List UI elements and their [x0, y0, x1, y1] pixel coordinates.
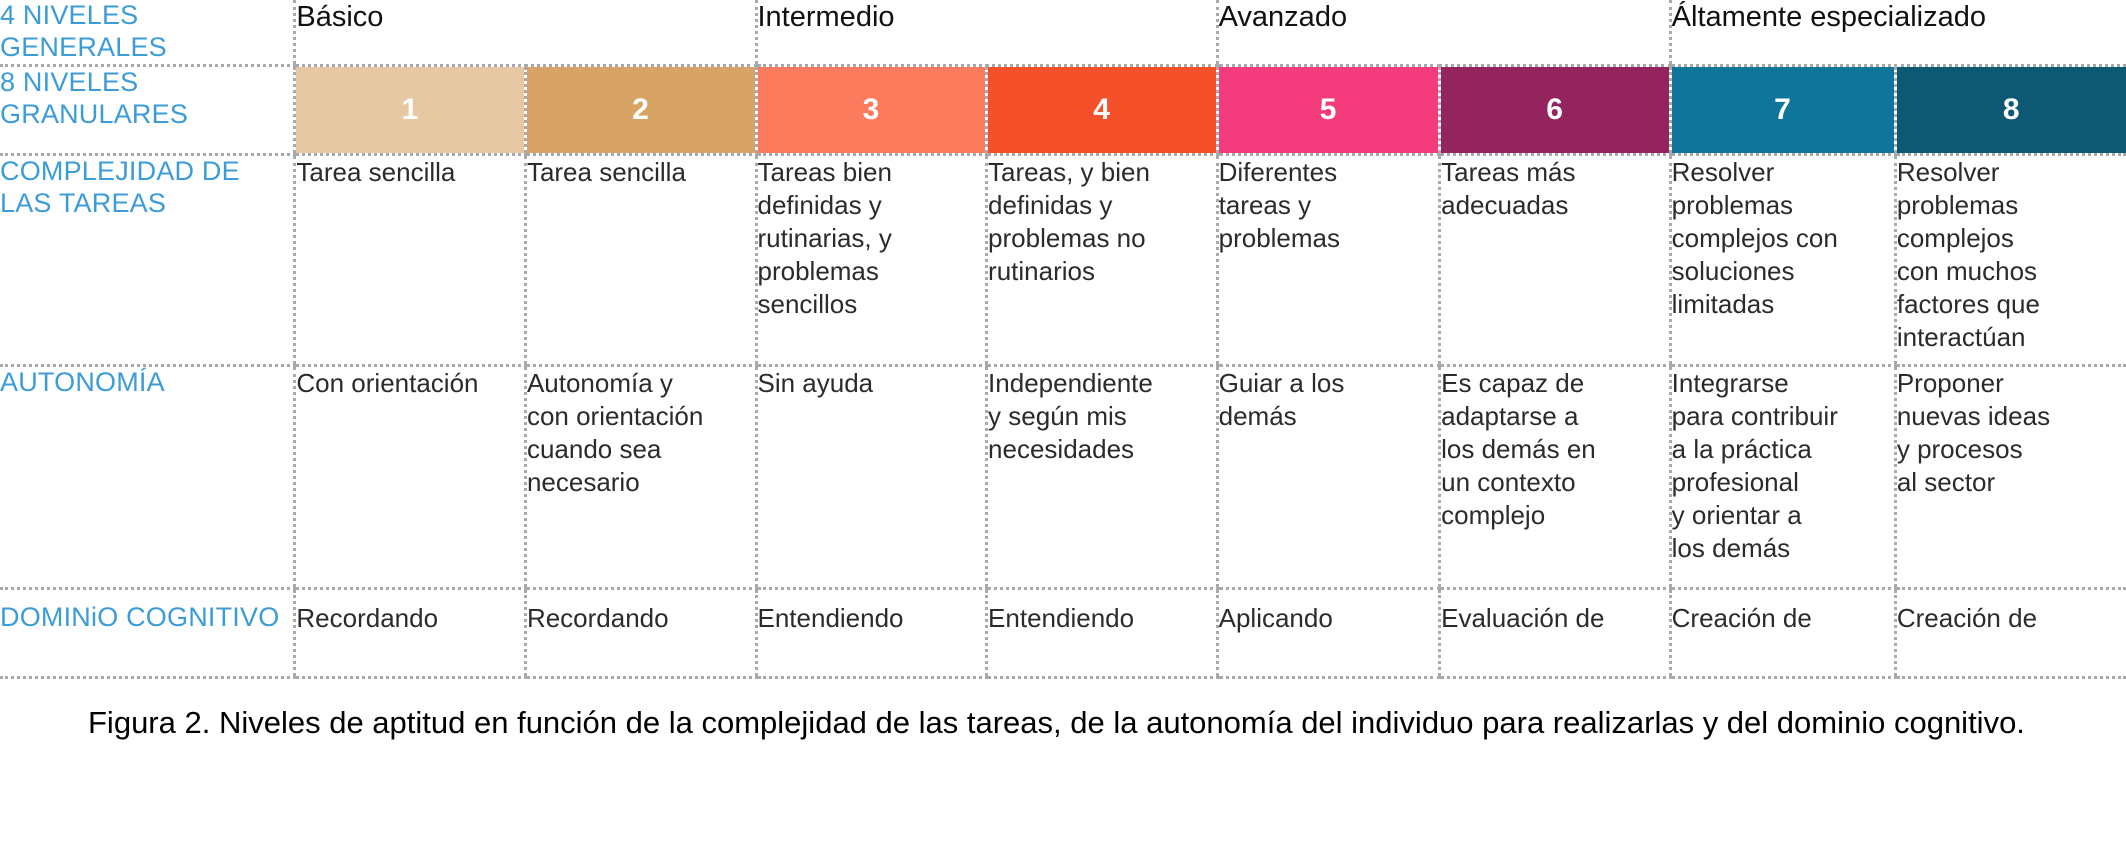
autonomy-cell-1: Con orientación [295, 365, 526, 588]
autonomy-cell-8: Proponer nuevas ideas y procesos al sect… [1895, 365, 2126, 588]
granular-level-number-4: 4 [1093, 93, 1110, 127]
granular-level-number-3: 3 [863, 93, 880, 127]
granular-level-cell-1: 1 [295, 65, 526, 154]
general-level-altamente-especializado: Áltamente especializado [1670, 0, 2126, 65]
cognitive-domain-cell-5: Aplicando [1217, 588, 1440, 677]
granular-level-cell-2: 2 [525, 65, 756, 154]
granular-level-cell-4: 4 [987, 65, 1218, 154]
granular-level-number-8: 8 [2003, 93, 2020, 127]
cognitive-domain-cell-1: Recordando [295, 588, 526, 677]
row-label-task-complexity: COMPLEJIDAD DE LAS TAREAS [0, 154, 295, 365]
task-complexity-cell-6: Tareas más adecuadas [1440, 154, 1671, 365]
granular-level-number-6: 6 [1546, 93, 1563, 127]
cognitive-domain-cell-6: Evaluación de [1440, 588, 1671, 677]
granular-level-cell-6: 6 [1440, 65, 1671, 154]
figure-caption: Figura 2. Niveles de aptitud en función … [0, 679, 2126, 743]
autonomy-cell-3: Sin ayuda [756, 365, 987, 588]
cognitive-domain-cell-3: Entendiendo [756, 588, 987, 677]
general-level-avanzado: Avanzado [1217, 0, 1670, 65]
aptitude-levels-table: 4 NIVELES GENERALES Básico Intermedio Av… [0, 0, 2126, 679]
granular-level-cell-5: 5 [1217, 65, 1440, 154]
row-label-autonomy: AUTONOMÍA [0, 365, 295, 588]
cognitive-domain-cell-2: Recordando [525, 588, 756, 677]
granular-level-band-8: 8 [1897, 67, 2126, 153]
autonomy-cell-2: Autonomía y con orientación cuando sea n… [525, 365, 756, 588]
table-row-cognitive-domain: DOMINiO COGNITIVO Recordando Recordando … [0, 588, 2126, 677]
task-complexity-cell-7: Resolver problemas complejos con solucio… [1670, 154, 1895, 365]
table-row-granular-levels: 8 NIVELES GRANULARES 1 2 3 4 [0, 65, 2126, 154]
task-complexity-cell-2: Tarea sencilla [525, 154, 756, 365]
task-complexity-cell-8: Resolver problemas complejos con muchos … [1895, 154, 2126, 365]
autonomy-cell-4: Independiente y según mis necesidades [987, 365, 1218, 588]
task-complexity-cell-3: Tareas bien definidas y rutinarias, y pr… [756, 154, 987, 365]
granular-level-number-5: 5 [1320, 93, 1337, 127]
granular-level-band-4: 4 [988, 67, 1216, 153]
task-complexity-cell-5: Diferentes tareas y problemas [1217, 154, 1440, 365]
granular-level-cell-8: 8 [1895, 65, 2126, 154]
row-label-general-levels: 4 NIVELES GENERALES [0, 0, 295, 65]
figure-container: 4 NIVELES GENERALES Básico Intermedio Av… [0, 0, 2126, 854]
row-label-granular-levels: 8 NIVELES GRANULARES [0, 65, 295, 154]
task-complexity-cell-1: Tarea sencilla [295, 154, 526, 365]
general-level-basico: Básico [295, 0, 756, 65]
general-level-intermedio: Intermedio [756, 0, 1217, 65]
cognitive-domain-cell-8: Creación de [1895, 588, 2126, 677]
granular-level-number-7: 7 [1774, 93, 1791, 127]
table-row-task-complexity: COMPLEJIDAD DE LAS TAREAS Tarea sencilla… [0, 154, 2126, 365]
granular-level-band-7: 7 [1672, 67, 1894, 153]
cognitive-domain-cell-4: Entendiendo [987, 588, 1218, 677]
granular-level-number-2: 2 [632, 93, 649, 127]
autonomy-cell-5: Guiar a los demás [1217, 365, 1440, 588]
autonomy-cell-7: Integrarse para contribuir a la práctica… [1670, 365, 1895, 588]
granular-level-cell-7: 7 [1670, 65, 1895, 154]
cognitive-domain-cell-7: Creación de [1670, 588, 1895, 677]
granular-level-band-5: 5 [1219, 67, 1439, 153]
granular-level-cell-3: 3 [756, 65, 987, 154]
granular-level-band-6: 6 [1441, 67, 1669, 153]
granular-level-band-3: 3 [758, 67, 986, 153]
task-complexity-cell-4: Tareas, y bien definidas y problemas no … [987, 154, 1218, 365]
granular-level-number-1: 1 [402, 93, 419, 127]
granular-level-band-2: 2 [527, 67, 755, 153]
autonomy-cell-6: Es capaz de adaptarse a los demás en un … [1440, 365, 1671, 588]
table-row-general-levels: 4 NIVELES GENERALES Básico Intermedio Av… [0, 0, 2126, 65]
table-row-autonomy: AUTONOMÍA Con orientación Autonomía y co… [0, 365, 2126, 588]
granular-level-band-1: 1 [296, 67, 524, 153]
row-label-cognitive-domain: DOMINiO COGNITIVO [0, 588, 295, 677]
